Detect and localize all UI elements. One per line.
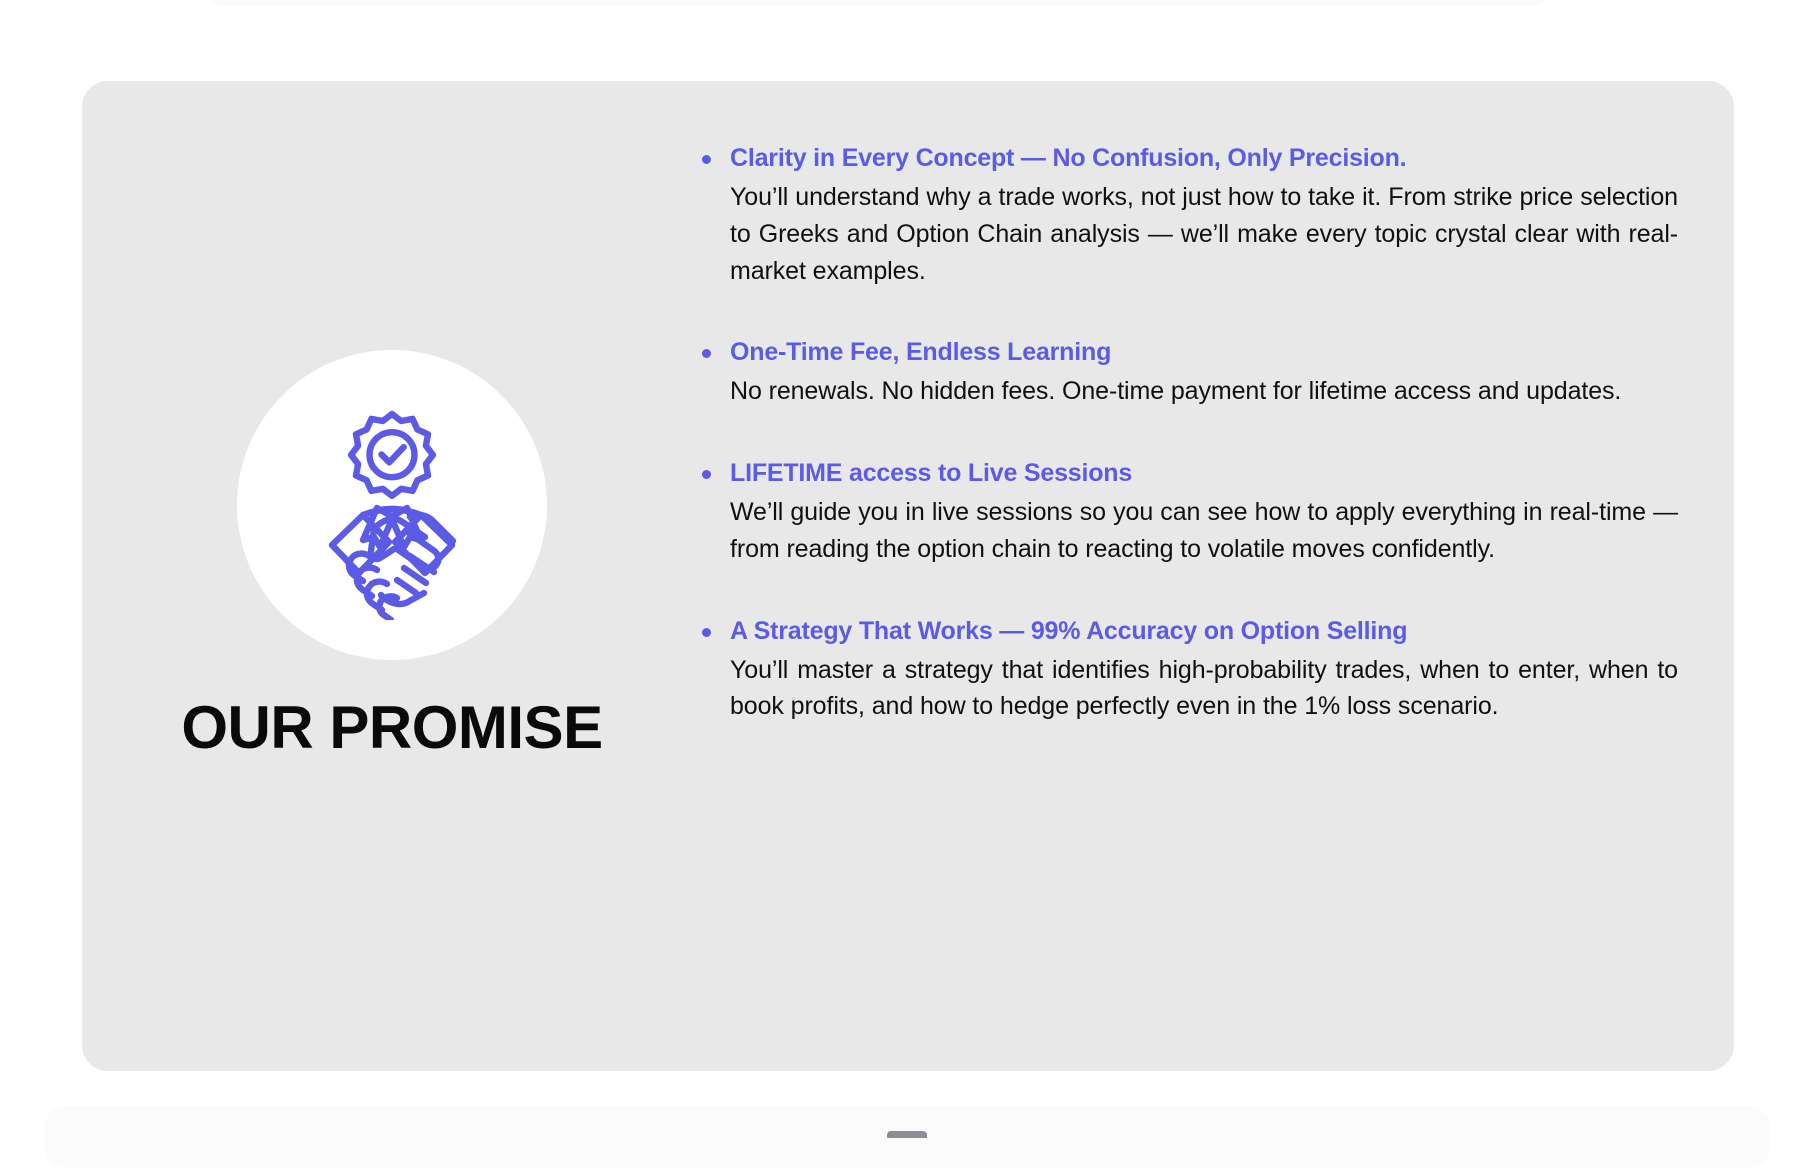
bullet-heading: LIFETIME access to Live Sessions [730, 457, 1678, 489]
page-title: OUR PROMISE [181, 698, 602, 758]
our-promise-card: OUR PROMISE Clarity in Every Concept — N… [82, 81, 1734, 1071]
handshake-award-icon-circle [237, 350, 547, 660]
list-item: One-Time Fee, Endless Learning No renewa… [702, 336, 1678, 410]
bullet-heading: Clarity in Every Concept — No Confusion,… [730, 142, 1678, 174]
scroll-handle[interactable] [887, 1131, 927, 1138]
handshake-award-icon [277, 390, 507, 620]
bullet-dot-icon [702, 628, 711, 637]
bullet-body: No renewals. No hidden fees. One-time pa… [730, 373, 1678, 410]
bullet-heading: One-Time Fee, Endless Learning [730, 336, 1678, 368]
bullet-dot-icon [702, 470, 711, 479]
promise-left-column: OUR PROMISE [82, 81, 702, 758]
bullet-dot-icon [702, 155, 711, 164]
list-item: Clarity in Every Concept — No Confusion,… [702, 142, 1678, 289]
list-item: LIFETIME access to Live Sessions We’ll g… [702, 457, 1678, 568]
bullet-body: You’ll master a strategy that identifies… [730, 652, 1678, 726]
bullet-body: You’ll understand why a trade works, not… [730, 179, 1678, 289]
list-item: A Strategy That Works — 99% Accuracy on … [702, 615, 1678, 726]
top-slide-bleed [208, 0, 1548, 6]
bullet-body: We’ll guide you in live sessions so you … [730, 494, 1678, 568]
promise-right-column: Clarity in Every Concept — No Confusion,… [702, 81, 1734, 725]
bullet-heading: A Strategy That Works — 99% Accuracy on … [730, 615, 1678, 647]
bullet-dot-icon [702, 349, 711, 358]
promise-bullet-list: Clarity in Every Concept — No Confusion,… [702, 142, 1678, 725]
